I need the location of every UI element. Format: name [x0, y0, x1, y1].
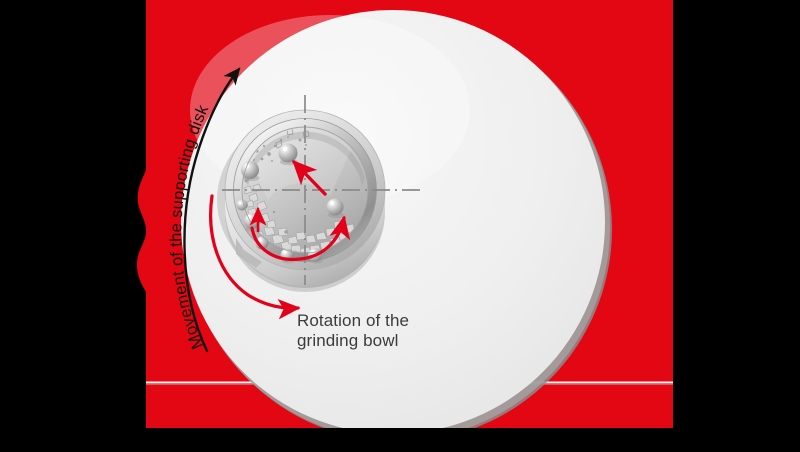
- bowl-rotation-label-line2: grinding bowl: [297, 331, 398, 350]
- grinding-ball: [279, 144, 298, 163]
- bowl-rotation-label-line1: Rotation of the: [297, 311, 409, 330]
- diagram-canvas: Movement of the supporting disk Rotation…: [0, 0, 800, 452]
- grinding-ball: [237, 200, 248, 211]
- planetary-mill-diagram: Movement of the supporting disk Rotation…: [0, 0, 800, 452]
- grinding-ball: [327, 199, 344, 216]
